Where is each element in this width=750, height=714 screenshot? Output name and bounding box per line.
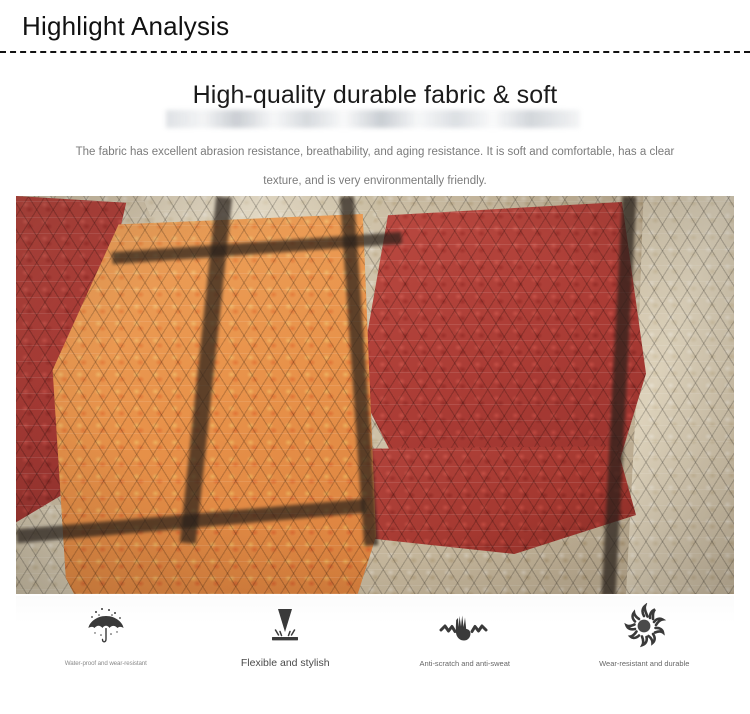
sun-icon (615, 602, 673, 650)
hero-headline: High-quality durable fabric & soft (0, 78, 750, 112)
feature-label: Anti-scratch and anti-sweat (420, 658, 510, 669)
feature-item-wearresistant: Wear-resistant and durable (555, 596, 735, 669)
headline-blur-band (166, 110, 580, 128)
page-title: Highlight Analysis (22, 8, 229, 44)
feature-item-flexible: Flexible and stylish (196, 596, 376, 669)
feature-strip: Water-proof and wear-resistant Flexible … (16, 596, 734, 688)
feature-label: Wear-resistant and durable (599, 658, 689, 669)
hero-headline-block: High-quality durable fabric & soft (0, 78, 750, 112)
wedge-impact-icon (256, 602, 314, 650)
feature-label: Water-proof and wear-resistant (65, 658, 147, 669)
feature-item-antiscratch: Anti-scratch and anti-sweat (375, 596, 555, 669)
hero-description: The fabric has excellent abrasion resist… (75, 138, 675, 196)
product-photo (16, 196, 734, 594)
hand-waves-icon (436, 602, 494, 650)
photo-canvas (16, 196, 734, 594)
umbrella-rain-icon (77, 602, 135, 650)
title-divider (0, 51, 750, 53)
feature-item-waterproof: Water-proof and wear-resistant (16, 596, 196, 669)
feature-label: Flexible and stylish (241, 658, 330, 669)
